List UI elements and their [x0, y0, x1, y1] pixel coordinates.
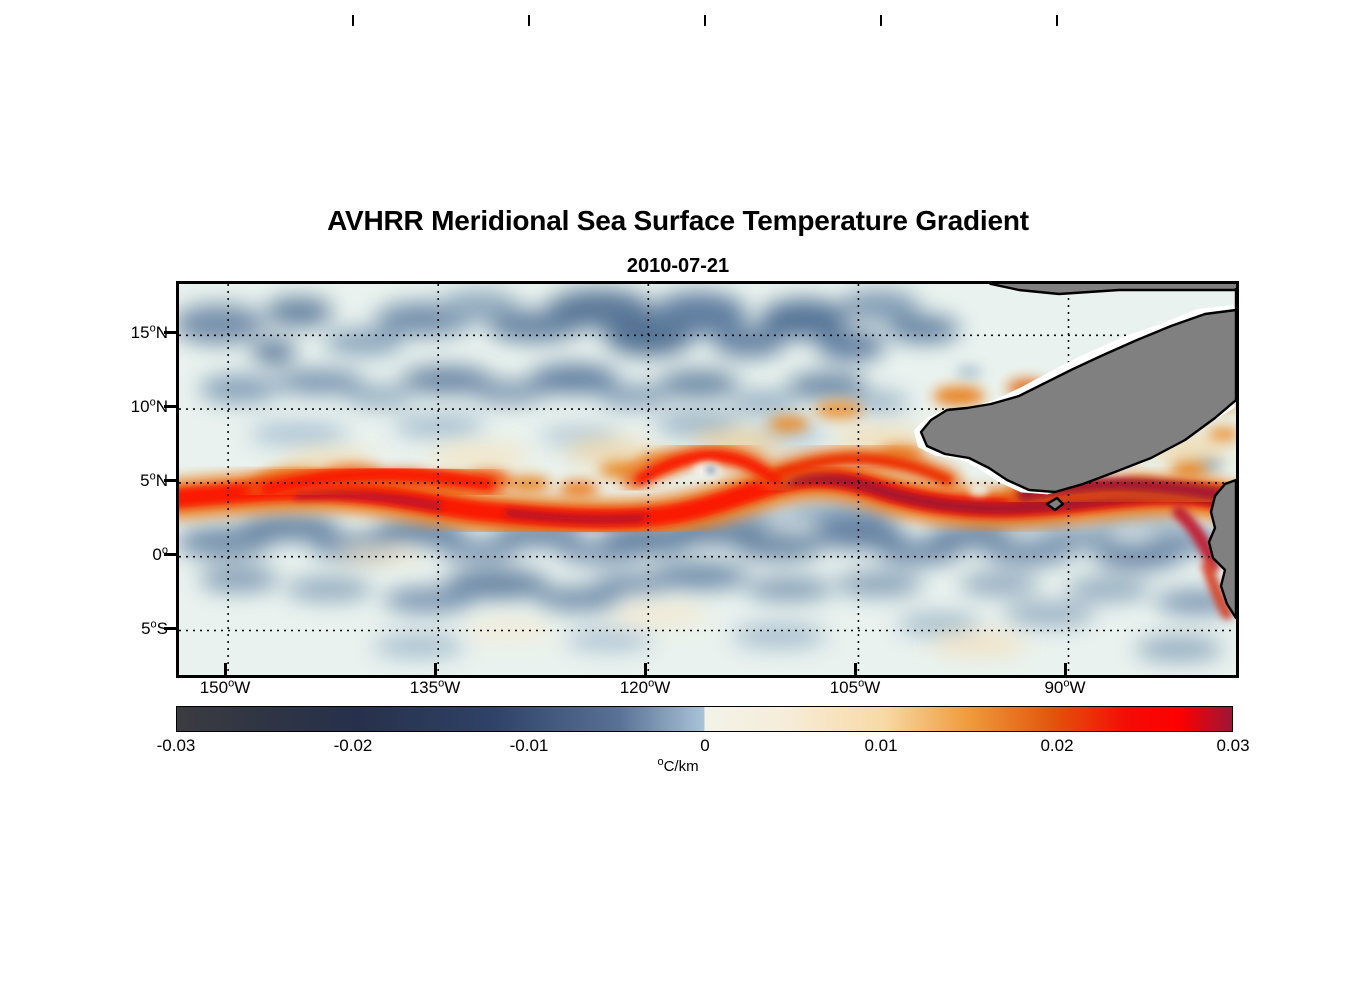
colorbar-label-4: 0.01	[821, 736, 941, 756]
sst-gradient-heatmap	[179, 284, 1236, 675]
colorbar-label-6: 0.03	[1173, 736, 1293, 756]
figure-subtitle: 2010-07-21	[0, 255, 1356, 278]
x-tick-label-90w: 90oW	[1005, 678, 1125, 698]
figure-canvas: AVHRR Meridional Sea Surface Temperature…	[0, 0, 1356, 1000]
x-tick-label-150w: 150oW	[165, 678, 285, 698]
colorbar-unit-label: oC/km	[0, 758, 1356, 775]
colorbar-tick-2	[528, 15, 530, 26]
colorbar-tick-3	[704, 15, 706, 26]
y-tick-label-0: 0o	[0, 545, 168, 565]
colorbar-tick-5	[1056, 15, 1058, 26]
y-tick-label-5n: 5oN	[0, 471, 168, 491]
y-tick-label-15n: 15oN	[0, 323, 168, 343]
colorbar-label-5: 0.02	[997, 736, 1117, 756]
x-tick-label-105w: 105oW	[795, 678, 915, 698]
colorbar-tick-1	[352, 15, 354, 26]
x-tick-label-135w: 135oW	[375, 678, 495, 698]
colorbar-tick-4	[880, 15, 882, 26]
colorbar-label-2: -0.01	[469, 736, 589, 756]
colorbar-label-3: 0	[645, 736, 765, 756]
x-tick-mark-150w	[224, 663, 227, 675]
x-tick-mark-135w	[434, 663, 437, 675]
y-tick-label-5s: 5oS	[0, 619, 168, 639]
x-tick-label-120w: 120oW	[585, 678, 705, 698]
page-title: AVHRR Meridional Sea Surface Temperature…	[0, 205, 1356, 237]
x-tick-mark-90w	[1064, 663, 1067, 675]
map-axes	[176, 281, 1239, 678]
x-tick-mark-120w	[644, 663, 647, 675]
x-tick-mark-105w	[854, 663, 857, 675]
colorbar-label-1: -0.02	[293, 736, 413, 756]
colorbar-gradient	[177, 707, 1232, 731]
colorbar-label-0: -0.03	[116, 736, 236, 756]
colorbar	[176, 706, 1233, 732]
y-tick-label-10n: 10oN	[0, 397, 168, 417]
